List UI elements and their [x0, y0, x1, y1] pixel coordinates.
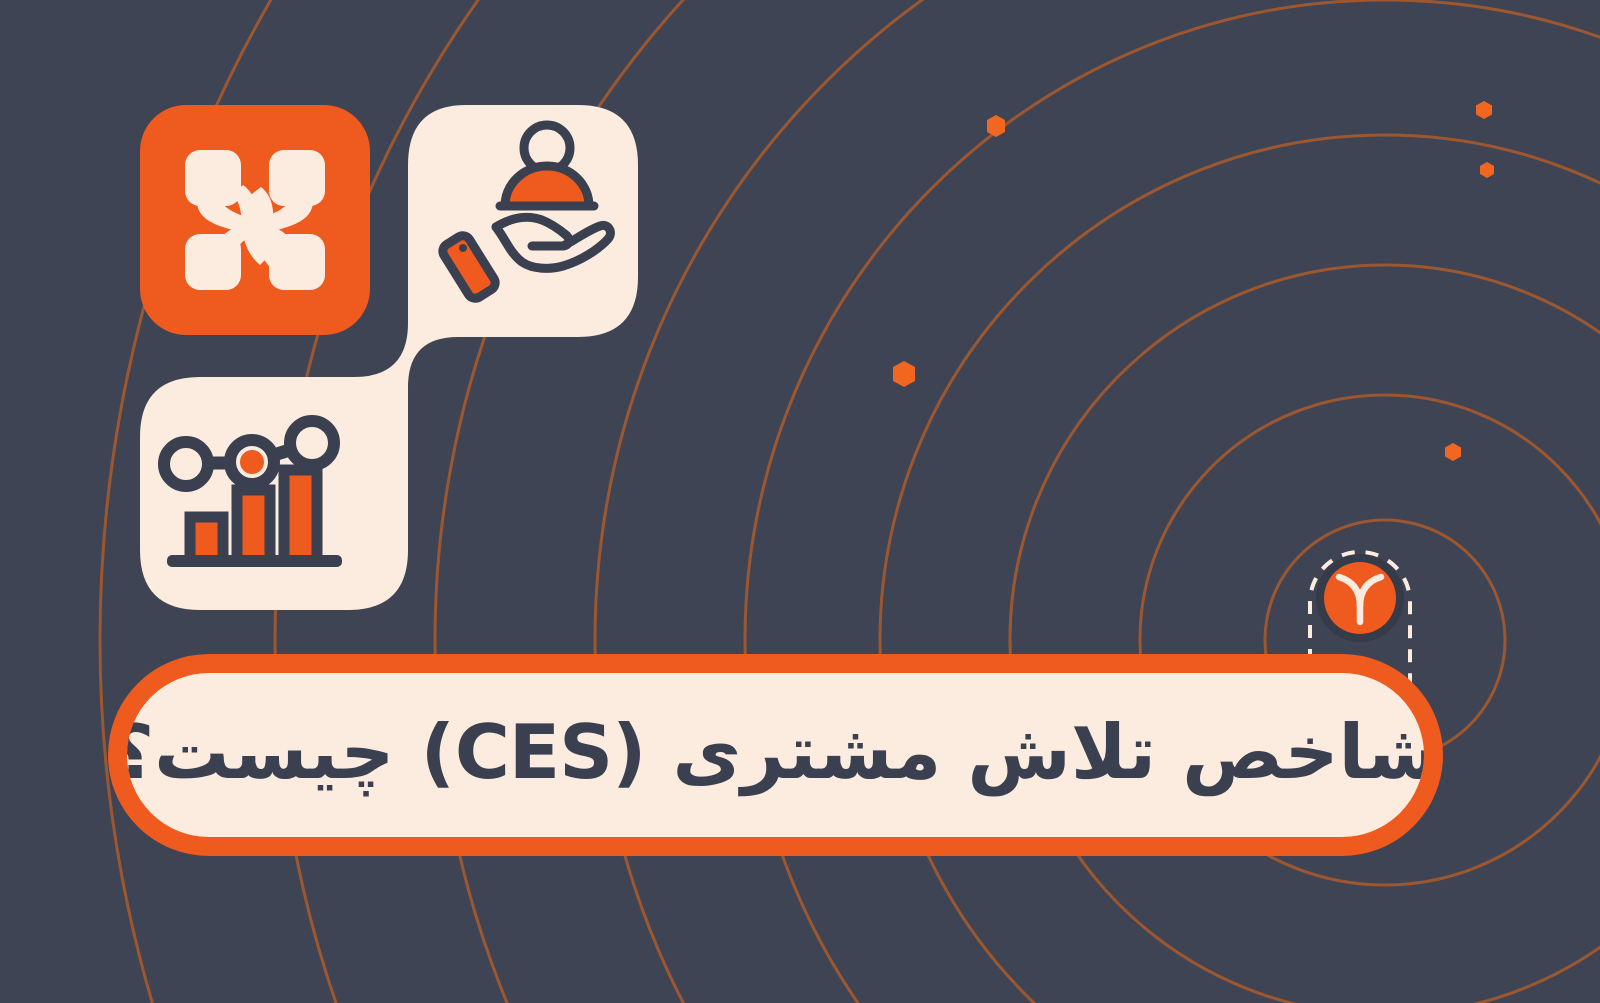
poster-canvas: شاخص تلاش مشتری (CES) چیست؟	[0, 0, 1600, 1003]
hex-dot	[987, 115, 1005, 137]
orange-hex-dots	[893, 101, 1494, 461]
brand-logo-tile[interactable]	[140, 105, 370, 335]
title-pill[interactable]: شاخص تلاش مشتری (CES) چیست؟	[108, 654, 1443, 856]
hex-dot	[893, 361, 915, 387]
hex-dot	[1480, 162, 1494, 178]
customer-in-hand-card[interactable]	[408, 105, 638, 335]
icon-cluster	[140, 105, 640, 610]
hex-dot	[1445, 443, 1461, 461]
hand-holding-person-icon	[440, 125, 611, 301]
analytics-card[interactable]	[140, 377, 370, 610]
hex-dot	[1476, 101, 1492, 119]
cuff-accent	[440, 233, 498, 301]
page-title: شاخص تلاش مشتری (CES) چیست؟	[111, 715, 1441, 796]
bar-chart-trend-icon	[164, 421, 342, 567]
